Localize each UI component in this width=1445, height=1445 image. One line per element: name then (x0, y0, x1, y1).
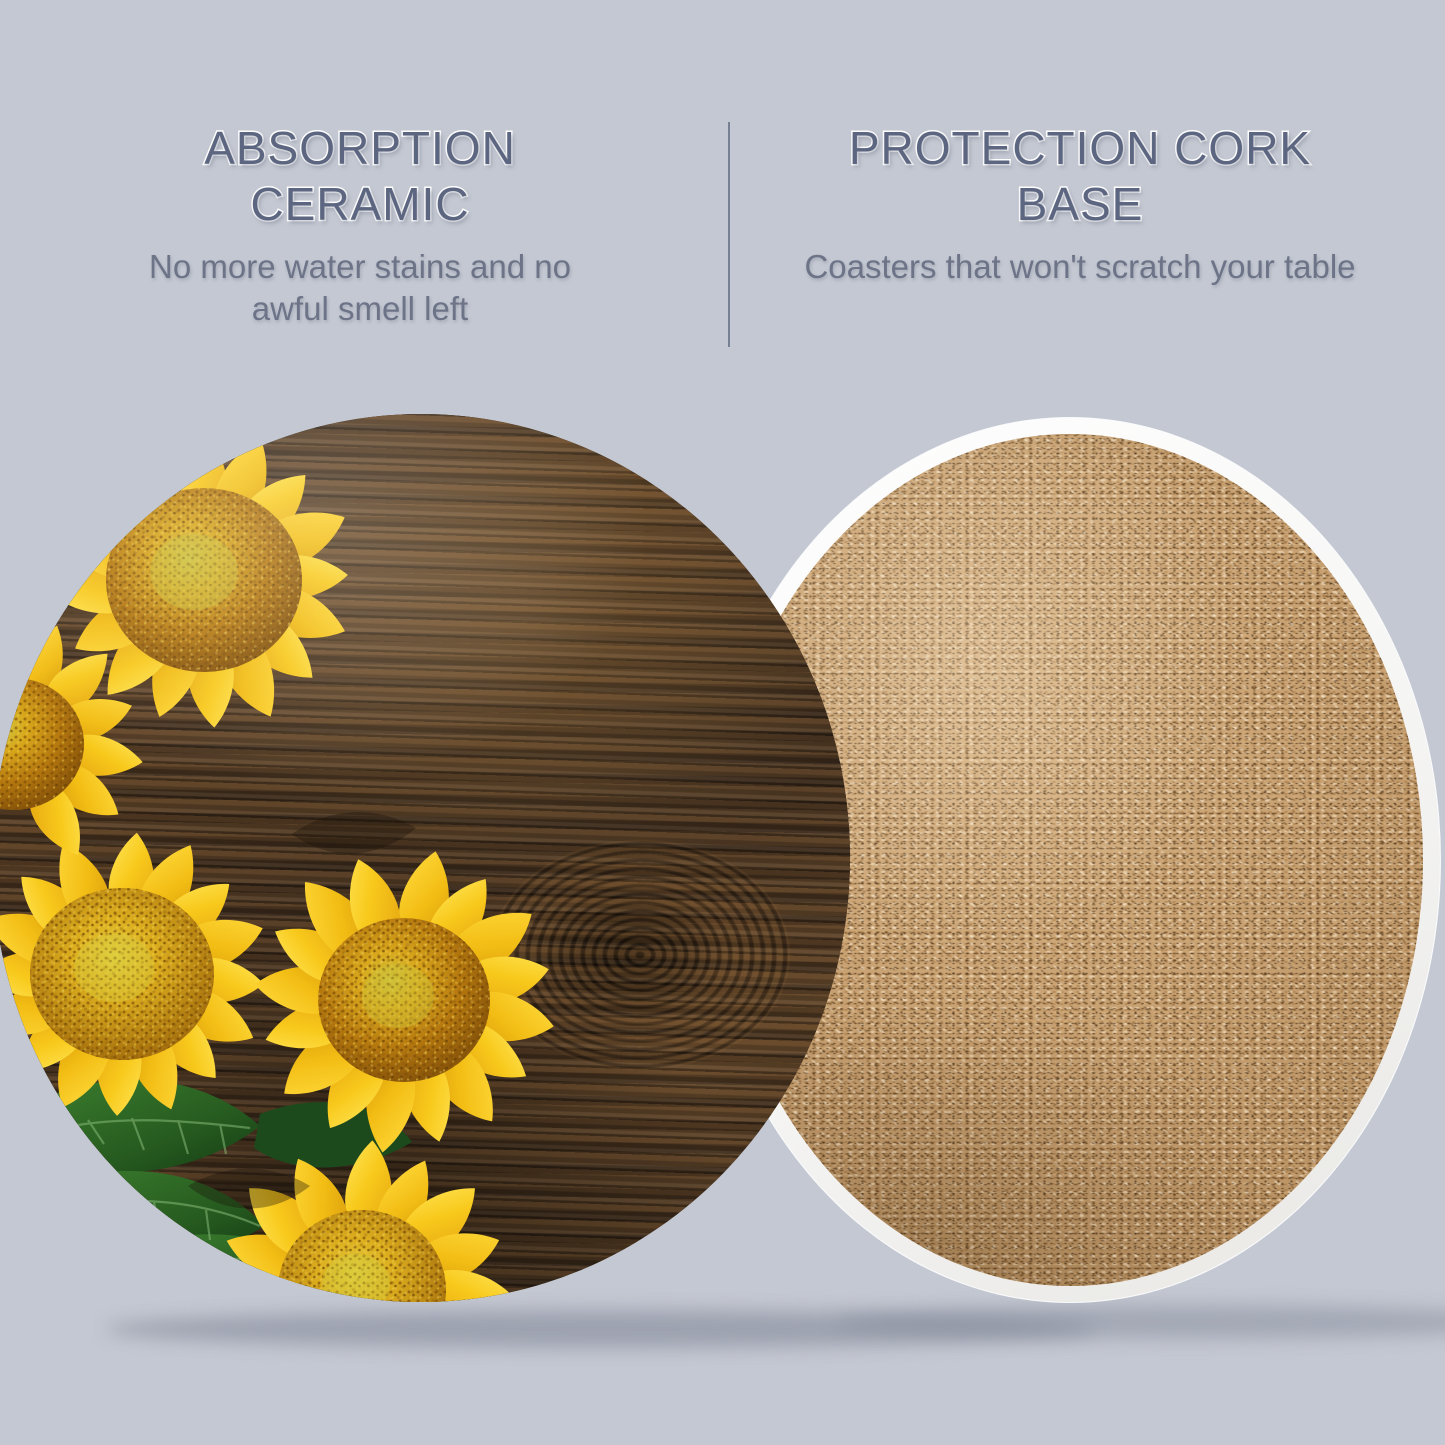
feature-title-protection-line2: BASE (1017, 178, 1144, 230)
feature-title-absorption-line2: CERAMIC (250, 178, 469, 230)
feature-title-protection-line1: PROTECTION CORK (849, 122, 1311, 174)
feature-subtitle-protection: Coasters that won't scratch your table (800, 246, 1360, 288)
feature-column-protection: PROTECTION CORK BASE Coasters that won't… (800, 120, 1360, 288)
feature-title-protection: PROTECTION CORK BASE (800, 120, 1360, 232)
feature-title-absorption: ABSORPTION CERAMIC (110, 120, 610, 232)
sunflower-2 (0, 830, 270, 1116)
product-infographic: ABSORPTION CERAMIC No more water stains … (0, 0, 1445, 1445)
feature-title-absorption-line1: ABSORPTION (204, 122, 516, 174)
column-divider (728, 122, 730, 347)
feature-column-absorption: ABSORPTION CERAMIC No more water stains … (110, 120, 610, 330)
ceramic-coaster[interactable] (0, 414, 850, 1302)
sunflower-artwork (0, 414, 850, 1302)
feature-header: ABSORPTION CERAMIC No more water stains … (0, 0, 1445, 400)
feature-subtitle-absorption: No more water stains and no awful smell … (110, 246, 610, 330)
